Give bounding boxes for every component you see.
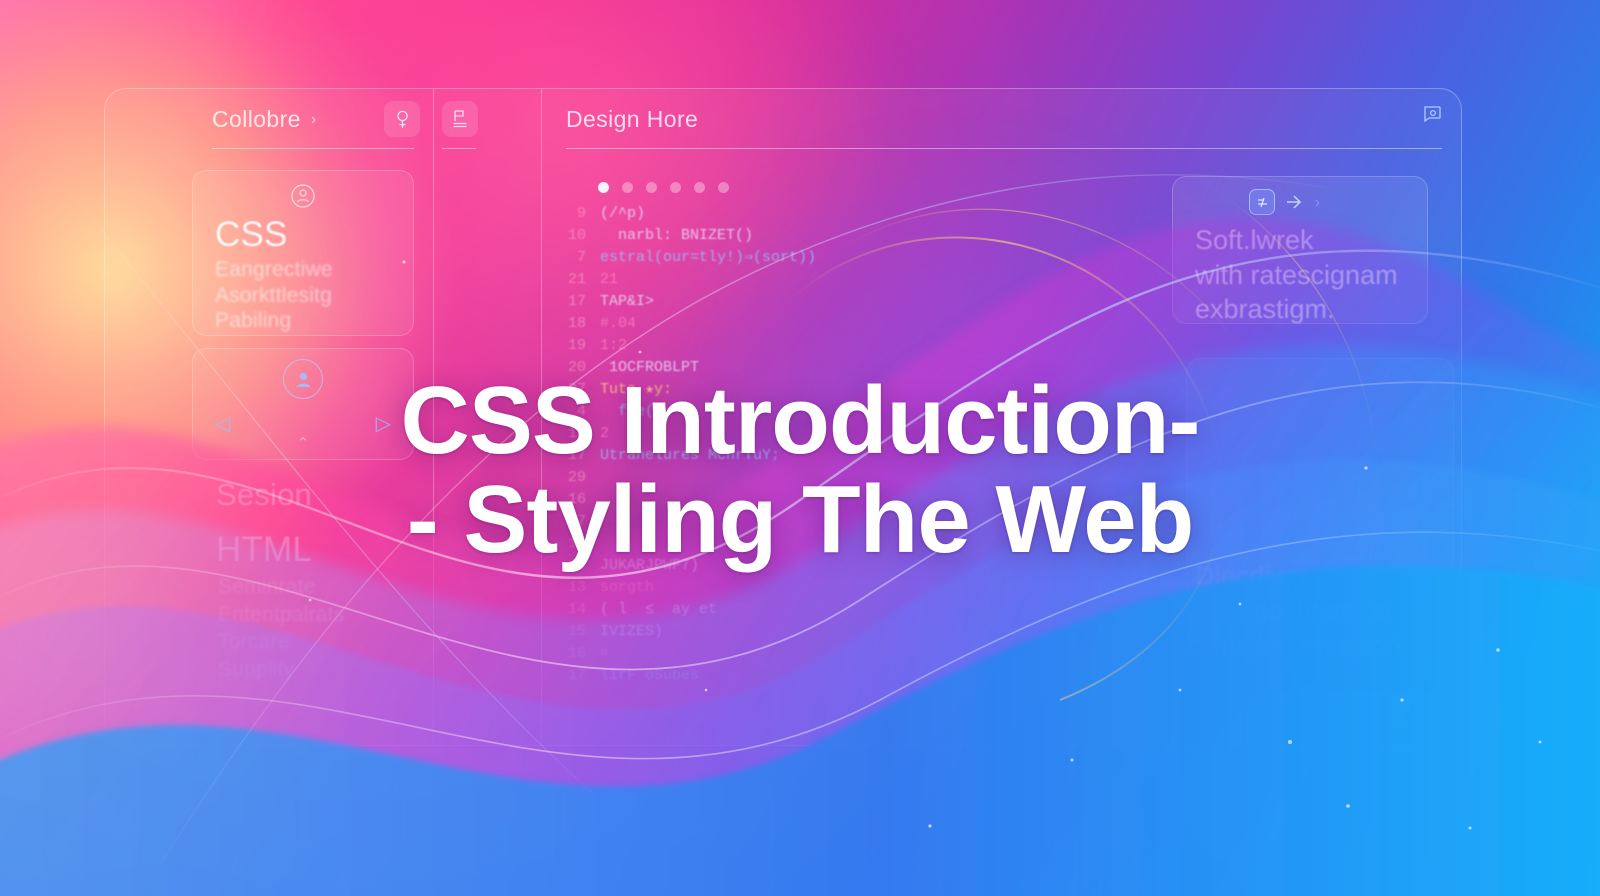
banner-stage: Collobre › CSS Eangrectiwe Asorkttlesitg… (0, 0, 1600, 896)
page-title: CSS Introduction- - Styling The Web (0, 372, 1600, 570)
